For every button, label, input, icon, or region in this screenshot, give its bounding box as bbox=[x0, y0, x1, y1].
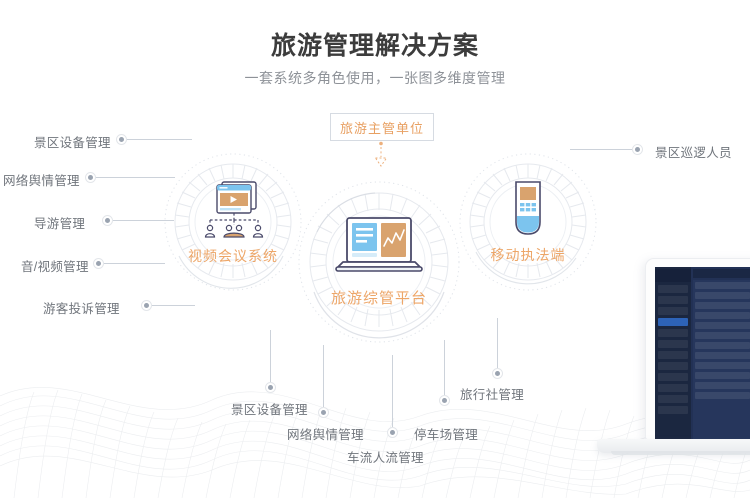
dashboard-main bbox=[691, 267, 750, 443]
dashboard-tree-panel bbox=[693, 280, 750, 440]
dashboard-menu-item bbox=[658, 340, 688, 348]
label-right-0: 景区巡逻人员 bbox=[655, 142, 732, 161]
node-center-caption: 旅游综管平台 bbox=[331, 287, 427, 308]
dashboard-sidebar bbox=[655, 267, 691, 443]
background-wave-mesh bbox=[0, 348, 750, 498]
dashboard-tree-row bbox=[695, 372, 750, 379]
authority-arrow-icon bbox=[368, 141, 394, 169]
connector-line-bottom-1 bbox=[270, 330, 271, 382]
dashboard-menu-item bbox=[658, 395, 688, 403]
dashboard-menu-item bbox=[658, 384, 688, 392]
video-conference-icon bbox=[196, 179, 270, 239]
connector-line-right-1 bbox=[570, 149, 632, 150]
node-central-platform[interactable]: 旅游综管平台 bbox=[297, 180, 461, 344]
node-mobile-enforcement[interactable]: 移动执法端 bbox=[458, 152, 598, 292]
label-left-3: 音/视频管理 bbox=[21, 256, 89, 275]
dashboard-screen bbox=[655, 267, 750, 443]
authority-label: 旅游主管单位 bbox=[340, 118, 424, 137]
dashboard-tree-row bbox=[695, 322, 750, 329]
dot-bottom-1 bbox=[318, 407, 329, 418]
node-mobile-caption: 移动执法端 bbox=[491, 245, 566, 265]
dot-bottom-3 bbox=[439, 395, 450, 406]
label-left-1: 网络舆情管理 bbox=[3, 170, 80, 189]
label-left-0: 景区设备管理 bbox=[34, 132, 111, 151]
label-bottom-0: 景区设备管理 bbox=[231, 399, 308, 418]
page-title: 旅游管理解决方案 bbox=[0, 26, 750, 62]
node-video-caption: 视频会议系统 bbox=[188, 246, 278, 266]
label-bottom-1: 网络舆情管理 bbox=[287, 424, 364, 443]
authority-box: 旅游主管单位 bbox=[330, 113, 434, 141]
dashboard-menu-item bbox=[658, 329, 688, 337]
dashboard-menu-item bbox=[658, 307, 688, 315]
mobile-device-icon bbox=[506, 180, 550, 238]
dot-left-3 bbox=[93, 258, 104, 269]
dashboard-tree-row bbox=[695, 302, 750, 309]
connector-line-left-4 bbox=[103, 263, 165, 264]
dashboard-menu-item bbox=[658, 406, 688, 414]
dashboard-topbar bbox=[693, 269, 750, 278]
page-subtitle: 一套系统多角色使用，一张图多维度管理 bbox=[0, 68, 750, 88]
dashboard-body bbox=[693, 280, 750, 440]
dashboard-tree-row bbox=[695, 352, 750, 359]
dashboard-tree-row bbox=[695, 312, 750, 319]
label-bottom-4: 旅行社管理 bbox=[460, 384, 524, 403]
connector-line-bottom-4 bbox=[444, 340, 445, 395]
dot-left-4 bbox=[141, 300, 152, 311]
dot-bottom-0 bbox=[265, 382, 276, 393]
dashboard-menu-item bbox=[658, 351, 688, 359]
dashboard-tree-row bbox=[695, 382, 750, 389]
label-left-2: 导游管理 bbox=[34, 213, 85, 232]
dashboard-brand bbox=[655, 269, 691, 282]
node-video-conference[interactable]: 视频会议系统 bbox=[163, 152, 303, 292]
dashboard-tree-row bbox=[695, 342, 750, 349]
dot-right-0 bbox=[632, 144, 643, 155]
connector-line-bottom-2 bbox=[323, 345, 324, 407]
dashboard-menu-item-active bbox=[658, 318, 688, 326]
laptop-dashboard-icon bbox=[333, 216, 425, 278]
connector-line-bottom-5 bbox=[497, 318, 498, 368]
label-bottom-3: 停车场管理 bbox=[414, 424, 478, 443]
solution-diagram: 旅游管理解决方案 一套系统多角色使用，一张图多维度管理 旅游主管单位 景区设备管… bbox=[0, 0, 750, 498]
dashboard-tree-row bbox=[695, 292, 750, 299]
dashboard-menu-item bbox=[658, 362, 688, 370]
dashboard-tree-row bbox=[695, 362, 750, 369]
dashboard-tree-row bbox=[695, 332, 750, 339]
dot-bottom-2 bbox=[387, 427, 398, 438]
dashboard-menu-item bbox=[658, 285, 688, 293]
dot-bottom-4 bbox=[492, 368, 503, 379]
label-bottom-2: 车流人流管理 bbox=[347, 447, 424, 466]
dashboard-menu-item bbox=[658, 373, 688, 381]
connector-line-left-5 bbox=[151, 305, 195, 306]
dot-left-2 bbox=[102, 215, 113, 226]
connector-line-bottom-3 bbox=[392, 355, 393, 427]
connector-line-left-1 bbox=[126, 139, 192, 140]
laptop-foot bbox=[611, 451, 750, 455]
dashboard-tree-row bbox=[695, 282, 750, 289]
dashboard-tree-row bbox=[695, 392, 750, 399]
dot-left-0 bbox=[116, 134, 127, 145]
label-left-4: 游客投诉管理 bbox=[43, 298, 120, 317]
dot-left-1 bbox=[85, 172, 96, 183]
dashboard-menu-item bbox=[658, 296, 688, 304]
